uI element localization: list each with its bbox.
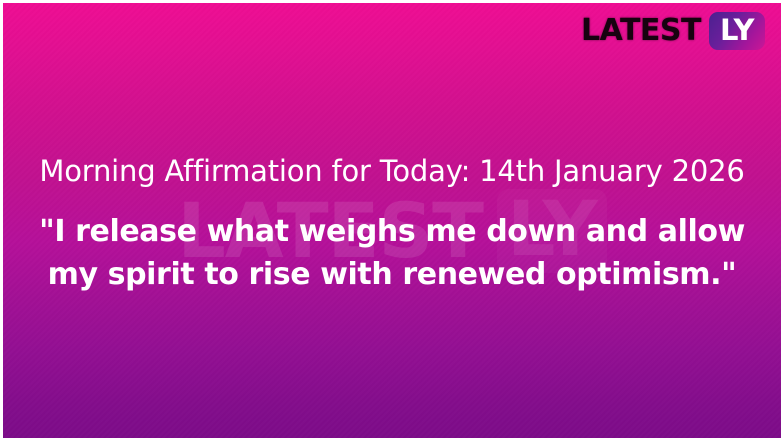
affirmation-card: LATEST LY LATEST LY Morning Affirmation … <box>0 0 784 441</box>
logo-ly-text: LY <box>720 16 754 45</box>
logo-ly-badge: LY <box>709 12 765 50</box>
affirmation-quote: "I release what weighs me down and allow… <box>17 211 767 296</box>
logo-latest-text: LATEST <box>581 16 701 46</box>
content-block: Morning Affirmation for Today: 14th Janu… <box>3 153 781 296</box>
latestly-logo[interactable]: LATEST LY <box>581 12 765 50</box>
quote-line-1: "I release what weighs me down and allow <box>17 211 767 254</box>
headline-text: Morning Affirmation for Today: 14th Janu… <box>17 153 767 189</box>
quote-line-2: my spirit to rise with renewed optimism.… <box>17 254 767 297</box>
